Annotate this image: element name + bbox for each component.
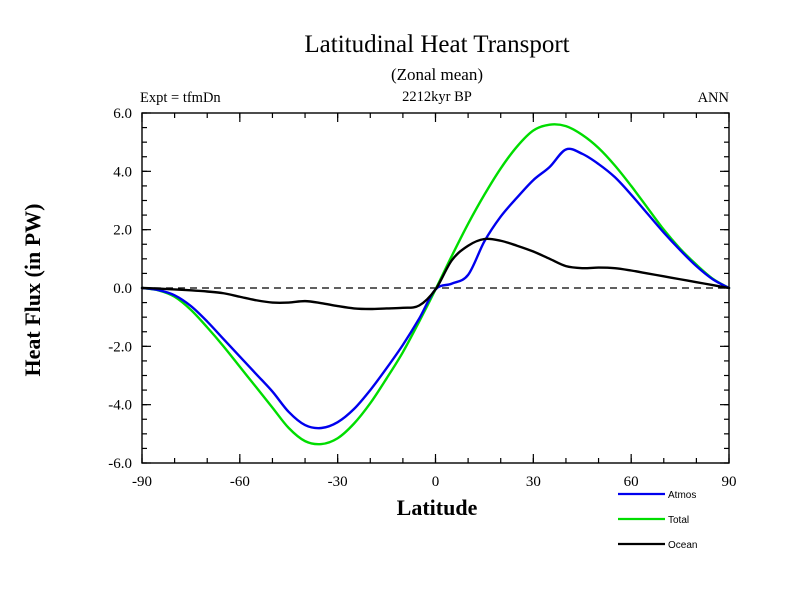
- y-tick-label: 0.0: [113, 281, 132, 297]
- period-label: 2212kyr BP: [402, 89, 472, 105]
- y-tick-label: -4.0: [108, 398, 132, 414]
- x-tick-label: -30: [328, 474, 348, 490]
- legend-label-total: Total: [668, 515, 689, 526]
- y-tick-label: -2.0: [108, 339, 132, 355]
- x-tick-label: -90: [132, 474, 152, 490]
- season-label: ANN: [698, 90, 730, 106]
- x-tick-label: 30: [526, 474, 541, 490]
- y-axis-title: Heat Flux (in PW): [20, 204, 45, 377]
- y-tick-label: 6.0: [113, 106, 132, 122]
- page-subtitle: (Zonal mean): [391, 65, 483, 84]
- page-title: Latitudinal Heat Transport: [304, 31, 569, 58]
- heat-transport-figure: Latitudinal Heat Transport (Zonal mean) …: [0, 0, 800, 600]
- x-tick-label: 60: [624, 474, 639, 490]
- x-tick-label: -60: [230, 474, 250, 490]
- y-tick-label: 2.0: [113, 223, 132, 239]
- x-tick-label: 90: [722, 474, 737, 490]
- experiment-label: Expt = tfmDn: [140, 90, 221, 106]
- x-axis-title: Latitude: [397, 495, 478, 520]
- legend-label-atmos: Atmos: [668, 490, 696, 501]
- legend-label-ocean: Ocean: [668, 540, 697, 551]
- y-tick-label: -6.0: [108, 456, 132, 472]
- x-tick-label: 0: [432, 474, 440, 490]
- y-tick-label: 4.0: [113, 164, 132, 180]
